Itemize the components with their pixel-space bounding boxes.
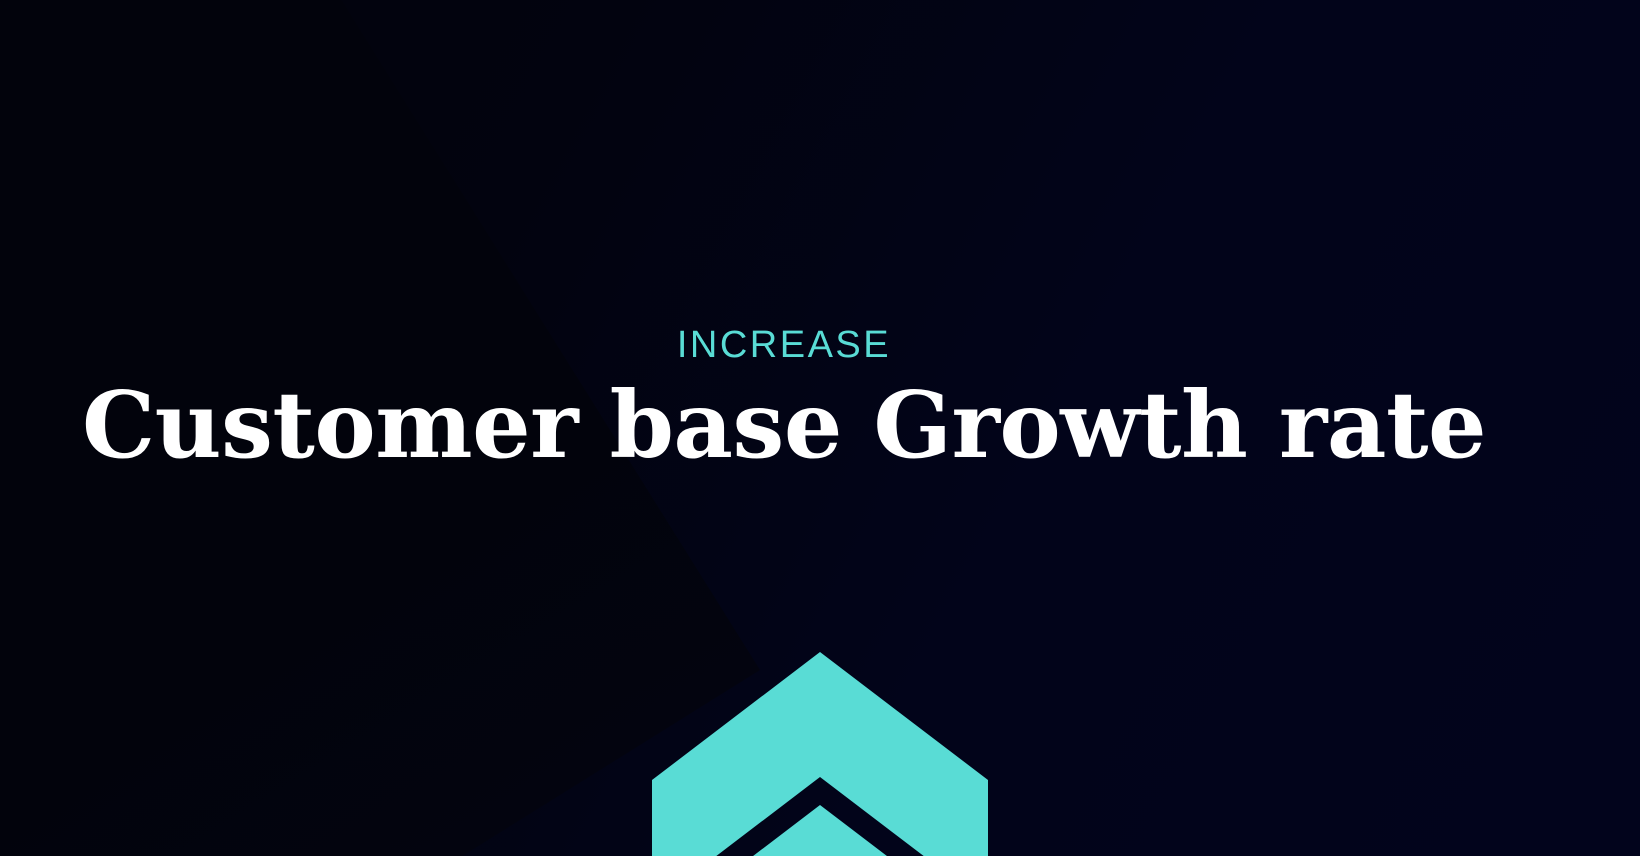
presentation-slide: INCREASE Customer base Growth rate <box>0 0 1640 856</box>
chevron-svg <box>0 0 1640 856</box>
double-chevron-up-icon <box>0 0 1640 856</box>
